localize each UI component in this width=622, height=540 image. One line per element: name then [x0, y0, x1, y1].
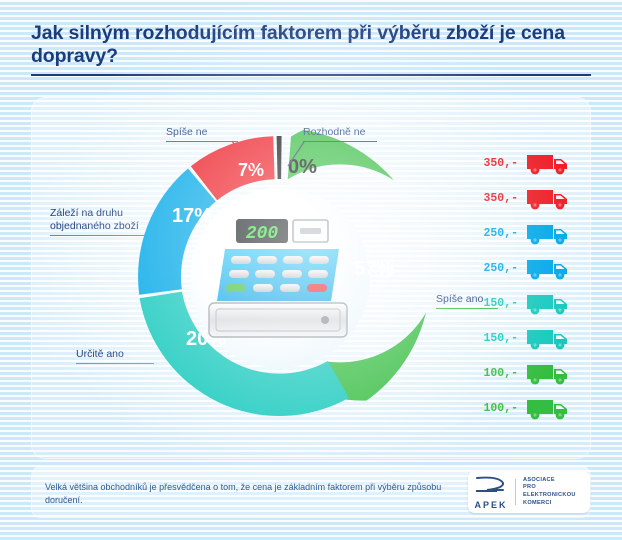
- delivery-price-list: 350,-350,-250,-250,-150,-150,-100,-100,-: [470, 146, 595, 426]
- callout-rozhodne-ne-rule: [303, 141, 377, 142]
- truck-icon-wrap: [525, 257, 571, 281]
- callout-zalezi-label-line1: Záleží na druhu: [50, 207, 154, 220]
- price-row: 250,-: [470, 251, 595, 286]
- truck-icon-wrap: [525, 327, 571, 351]
- truck-icon: [525, 152, 571, 176]
- callout-spise-ne-label: Spíše ne: [166, 126, 238, 139]
- swoosh-icon: [473, 474, 509, 494]
- apek-line-1: ASOCIACE: [523, 477, 576, 485]
- price-amount: 350,-: [470, 157, 518, 170]
- callout-zalezi-rule: [50, 235, 154, 236]
- truck-icon: [525, 292, 571, 316]
- callout-zalezi: Záleží na druhu objednaného zboží: [50, 207, 154, 236]
- logo-divider: [515, 479, 516, 505]
- header: Jak silným rozhodujícím faktorem při výb…: [31, 22, 591, 76]
- apek-logo-text: ASOCIACE PRO ELEKTRONICKOU KOMERCI: [523, 477, 576, 507]
- callout-rozhodne-ne-leader: [286, 140, 306, 170]
- slice-rozhodne-ne[interactable]: [277, 136, 282, 179]
- price-amount: 100,-: [470, 402, 518, 415]
- price-row: 150,-: [470, 321, 595, 356]
- callout-zalezi-label-line2: objednaného zboží: [50, 220, 154, 233]
- price-amount: 150,-: [470, 297, 518, 310]
- register-display-value: 200: [246, 224, 279, 244]
- callout-urcite-ano-label: Určitě ano: [76, 348, 154, 361]
- truck-icon-wrap: [525, 292, 571, 316]
- truck-icon: [525, 397, 571, 421]
- apek-wordmark: APEK: [468, 500, 514, 510]
- truck-icon-wrap: [525, 152, 571, 176]
- callout-spise-ne: Spíše ne: [166, 126, 238, 142]
- callout-spise-ne-leader: [232, 140, 258, 172]
- callout-rozhodne-ne: Rozhodně ne: [303, 126, 377, 142]
- apek-logo-mark: APEK: [468, 474, 514, 510]
- apek-line-3: ELEKTRONICKOU: [523, 492, 576, 500]
- infographic-canvas: Jak silným rozhodujícím faktorem při výb…: [0, 0, 622, 540]
- summary-caption: Velká většina obchodníků je přesvědčena …: [45, 481, 445, 507]
- price-amount: 250,-: [470, 262, 518, 275]
- donut-chart: 57% 20% 17% 7% 0% 200: [130, 128, 430, 428]
- callout-rozhodne-ne-label: Rozhodně ne: [303, 126, 377, 139]
- callout-spise-ne-rule: [166, 141, 238, 142]
- price-row: 250,-: [470, 216, 595, 251]
- apek-logo: APEK ASOCIACE PRO ELEKTRONICKOU KOMERCI: [468, 471, 590, 513]
- price-row: 350,-: [470, 181, 595, 216]
- price-row: 100,-: [470, 356, 595, 391]
- truck-icon: [525, 222, 571, 246]
- value-label-spise-ano: 57%: [354, 258, 394, 281]
- price-amount: 100,-: [470, 367, 518, 380]
- cash-register-illustration: 200: [203, 213, 358, 343]
- price-amount: 350,-: [470, 192, 518, 205]
- apek-line-4: KOMERCI: [523, 500, 576, 508]
- truck-icon: [525, 257, 571, 281]
- callout-urcite-ano-rule: [76, 363, 154, 364]
- truck-icon: [525, 327, 571, 351]
- price-row: 100,-: [470, 391, 595, 426]
- price-row: 150,-: [470, 286, 595, 321]
- truck-icon-wrap: [525, 187, 571, 211]
- truck-icon-wrap: [525, 397, 571, 421]
- truck-icon-wrap: [525, 222, 571, 246]
- price-amount: 250,-: [470, 227, 518, 240]
- truck-icon: [525, 362, 571, 386]
- truck-icon-wrap: [525, 362, 571, 386]
- truck-icon: [525, 187, 571, 211]
- page-title: Jak silným rozhodujícím faktorem při výb…: [31, 22, 591, 68]
- apek-line-2: PRO: [523, 484, 576, 492]
- price-row: 350,-: [470, 146, 595, 181]
- callout-urcite-ano: Určitě ano: [76, 348, 154, 364]
- title-rule: [31, 74, 591, 76]
- price-amount: 150,-: [470, 332, 518, 345]
